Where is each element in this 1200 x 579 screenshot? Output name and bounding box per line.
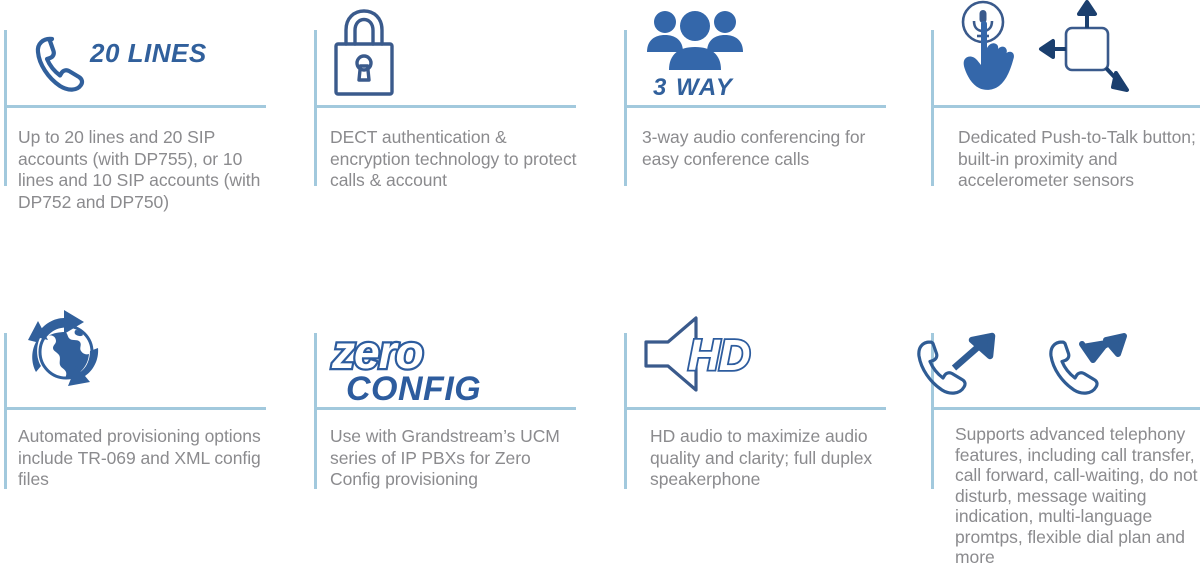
card-vertical-rule bbox=[624, 30, 627, 186]
card-vertical-rule bbox=[4, 333, 7, 489]
zero-config-wordmark-icon: zero CONFIG bbox=[330, 326, 510, 404]
card-vertical-rule bbox=[314, 30, 317, 186]
card-horizontal-rule bbox=[624, 407, 886, 410]
feature-description: DECT authentication & encryption technol… bbox=[330, 127, 582, 192]
svg-text:3 WAY: 3 WAY bbox=[653, 74, 734, 101]
svg-text:20 LINES: 20 LINES bbox=[89, 38, 207, 68]
globe-refresh-icon bbox=[18, 304, 138, 400]
three-people-icon: 3 WAY bbox=[645, 4, 785, 100]
feature-grid: 20 LINES Up to 20 lines and 20 SIP accou… bbox=[0, 0, 1200, 579]
feature-description: Dedicated Push-to-Talk button; built-in … bbox=[958, 127, 1200, 192]
card-horizontal-rule bbox=[4, 407, 266, 410]
feature-description: Use with Grandstream’s UCM series of IP … bbox=[330, 426, 584, 491]
feature-description: 3-way audio conferencing for easy confer… bbox=[642, 127, 892, 170]
hd-speaker-label: HD bbox=[688, 331, 750, 380]
card-vertical-rule bbox=[314, 333, 317, 489]
card-horizontal-rule bbox=[314, 105, 576, 108]
feature-description: HD audio to maximize audio quality and c… bbox=[650, 426, 900, 491]
call-transfer-forward-icon bbox=[910, 330, 1180, 400]
feature-description: Supports advanced telephony features, in… bbox=[955, 424, 1200, 568]
card-horizontal-rule bbox=[624, 105, 886, 108]
hd-speaker-icon: HD bbox=[640, 314, 790, 400]
zero-config-word-config: CONFIG bbox=[346, 370, 481, 408]
card-vertical-rule bbox=[624, 333, 627, 489]
card-vertical-rule bbox=[4, 30, 7, 186]
card-horizontal-rule bbox=[4, 105, 266, 108]
card-horizontal-rule bbox=[931, 105, 1200, 108]
phone-handset-icon: 20 LINES bbox=[22, 26, 262, 92]
feature-description: Up to 20 lines and 20 SIP accounts (with… bbox=[18, 127, 268, 213]
push-to-talk-hand-icon bbox=[941, 0, 1161, 100]
feature-description: Automated provisioning options include T… bbox=[18, 426, 276, 491]
padlock-icon bbox=[328, 6, 448, 98]
card-horizontal-rule bbox=[931, 407, 1200, 410]
card-vertical-rule bbox=[931, 30, 934, 186]
